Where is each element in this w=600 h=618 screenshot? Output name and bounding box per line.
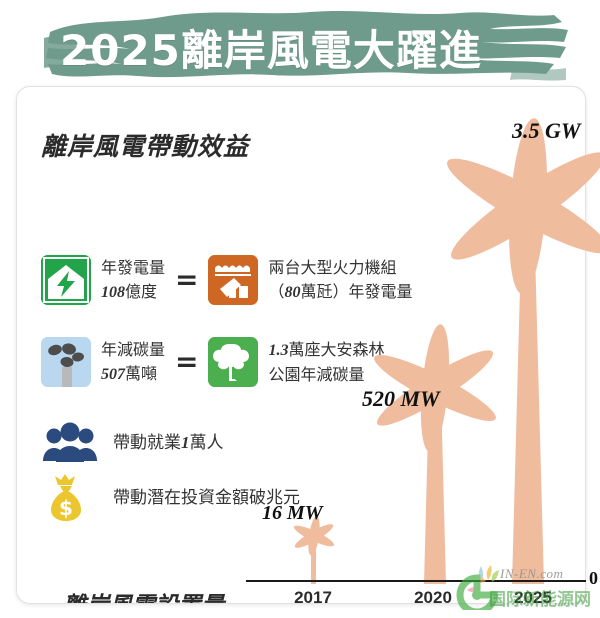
jobs-text-post: 萬人 (190, 433, 224, 453)
jobs-value: 1 (181, 433, 190, 452)
page-title: 2025離岸風電大躍進 (60, 22, 560, 80)
carbon-reduction-label: 年減碳量 (101, 340, 165, 359)
wind-capacity-chart: 16 MW 520 MW 3.5 GW 0 2 (246, 96, 600, 618)
tick-label-2017: 2017 (278, 588, 348, 608)
turbine-2025 (428, 114, 600, 584)
benefit-row-jobs: 帶動就業1萬人 (41, 421, 224, 465)
annual-generation-label: 年發電量 (101, 258, 165, 277)
jobs-text-pre: 帶動就業 (113, 433, 181, 453)
watermark-site-cn: 国际新能源网 (489, 585, 591, 610)
svg-text:$: $ (59, 496, 73, 520)
value-label-2017: 16 MW (262, 502, 323, 525)
three-people-icon (41, 421, 99, 465)
chart-heading: 離岸風電設置量 現況與預估 (63, 591, 224, 604)
smokestack-icon (41, 337, 91, 387)
tick-label-2020: 2020 (398, 588, 468, 608)
annual-generation-value: 108 (101, 284, 125, 301)
carbon-reduction-unit: 萬噸 (125, 364, 157, 383)
carbon-reduction-text: 年減碳量 507萬噸 (101, 338, 165, 385)
infographic-poster: 2025離岸風電大躍進 離岸風電帶動效益 年發電量 108億度 = (0, 0, 600, 618)
equals-sign: = (175, 348, 198, 376)
money-bag-crown-icon: $ (41, 473, 99, 523)
annual-generation-unit: 億度 (125, 282, 157, 301)
green-power-house-icon (41, 255, 91, 305)
jobs-text: 帶動就業1萬人 (113, 431, 224, 456)
watermark-site: IN-EN.com (500, 566, 563, 582)
benefits-heading: 離岸風電帶動效益 (41, 127, 249, 163)
equals-sign: = (175, 266, 198, 294)
title-banner: 2025離岸風電大躍進 (0, 0, 600, 100)
value-label-2025: 3.5 GW (512, 118, 580, 144)
carbon-reduction-value: 507 (101, 366, 125, 383)
annual-generation-text: 年發電量 108億度 (101, 256, 165, 303)
chart-title: 離岸風電設置量 (63, 591, 224, 604)
